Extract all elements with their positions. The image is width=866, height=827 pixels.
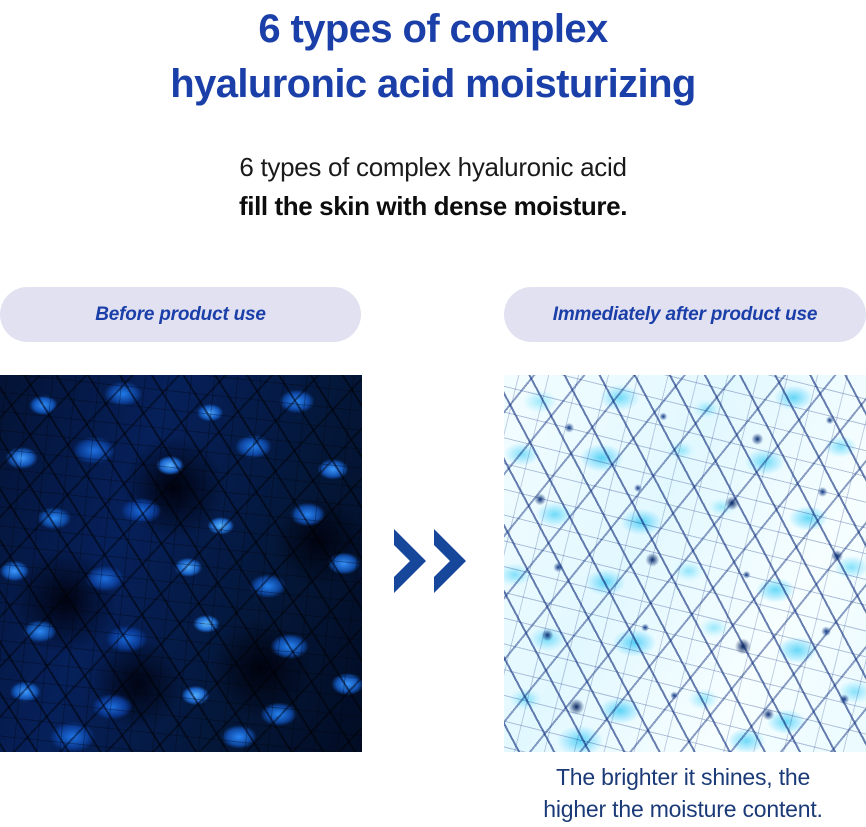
page-subtitle: 6 types of complex hyaluronic acid fill … [0, 149, 866, 224]
skin-fluorescence-before-image [0, 375, 362, 752]
page-title-line-1: 6 types of complex [0, 2, 866, 57]
moisture-caption-line-1: The brighter it shines, the [500, 761, 866, 793]
after-image-panel [504, 375, 866, 752]
page-title-line-2: hyaluronic acid moisturizing [0, 57, 866, 112]
page-subtitle-line-1: 6 types of complex hyaluronic acid [0, 149, 866, 185]
moisture-caption-line-2: higher the moisture content. [500, 793, 866, 825]
promo-page: 6 types of complex hyaluronic acid moist… [0, 0, 866, 827]
before-label-text: Before product use [95, 304, 266, 326]
double-chevron-right-icon [390, 525, 474, 597]
moisture-caption: The brighter it shines, the higher the m… [500, 761, 866, 825]
before-label-pill: Before product use [0, 287, 361, 342]
skin-fluorescence-after-image [504, 375, 866, 752]
after-label-text: Immediately after product use [553, 304, 818, 326]
before-image-panel [0, 375, 362, 752]
after-label-pill: Immediately after product use [504, 287, 866, 342]
page-subtitle-line-2: fill the skin with dense moisture. [0, 188, 866, 224]
page-title: 6 types of complex hyaluronic acid moist… [0, 2, 866, 112]
